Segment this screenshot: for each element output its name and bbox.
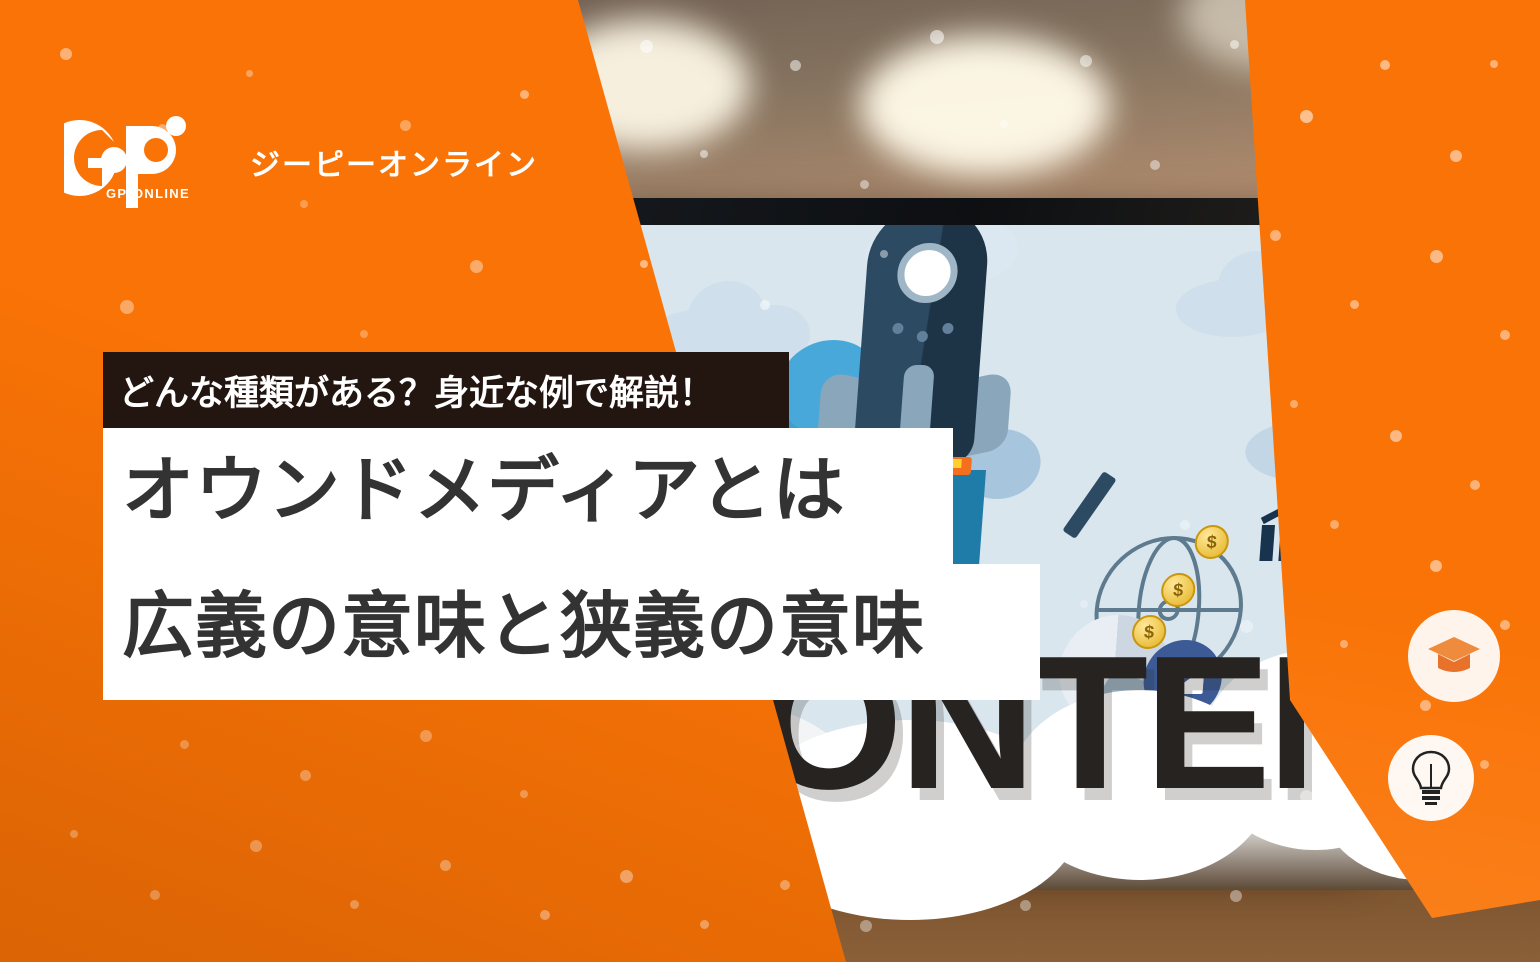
eyebrow-text: どんな種類がある？身近な例で解説！ — [103, 365, 714, 416]
lightbulb-icon — [1411, 750, 1451, 806]
ceiling-lamp-icon — [860, 36, 1110, 176]
banner-canvas: $ $ $ — [0, 0, 1540, 962]
lightbulb-badge — [1388, 735, 1474, 821]
logo-wordmark: GP-ONLINE — [106, 186, 190, 201]
brand-logo[interactable]: GP-ONLINE ジーピーオンライン — [64, 112, 538, 212]
graduation-cap-icon — [1426, 635, 1482, 677]
graduation-cap-badge — [1408, 610, 1500, 702]
brand-name-jp: ジーピーオンライン — [250, 140, 538, 184]
page-title-line1: オウンドメディアとは — [122, 455, 846, 527]
page-title-line2: 広義の意味と狭義の意味 — [122, 591, 925, 663]
eyebrow-bar: どんな種類がある？身近な例で解説！ — [103, 352, 789, 428]
gp-online-logo-icon: GP-ONLINE — [64, 112, 204, 212]
